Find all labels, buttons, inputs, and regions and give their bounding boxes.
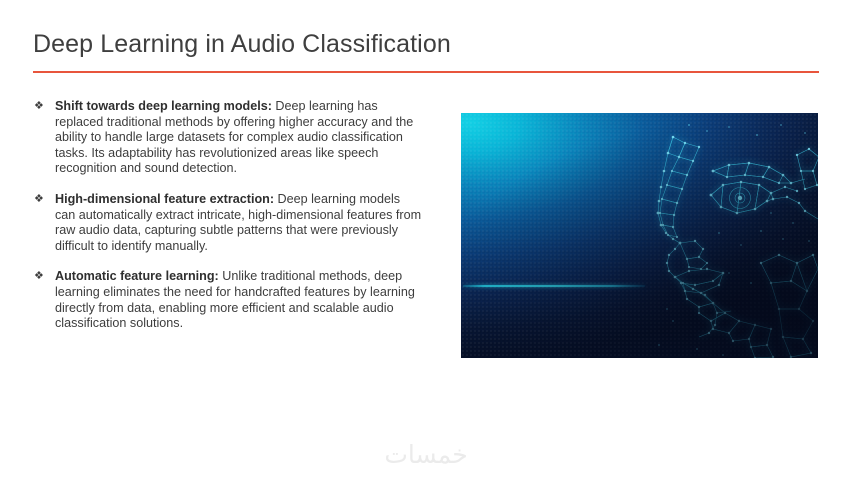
list-item-lead: High-dimensional feature extraction:	[55, 192, 274, 206]
slide-canvas: Deep Learning in Audio Classification ❖ …	[0, 0, 852, 478]
image-vignette-layer	[461, 113, 818, 358]
list-item: ❖ Automatic feature learning: Unlike tra…	[33, 269, 423, 331]
list-item-lead: Shift towards deep learning models:	[55, 99, 272, 113]
watermark-khamsat: خمسات	[0, 440, 852, 469]
diamond-bullet-icon: ❖	[34, 269, 44, 285]
bullet-list: ❖ Shift towards deep learning models: De…	[33, 99, 423, 347]
diamond-bullet-icon: ❖	[34, 99, 44, 115]
list-item: ❖ Shift towards deep learning models: De…	[33, 99, 423, 177]
list-item-lead: Automatic feature learning:	[55, 269, 219, 283]
diamond-bullet-icon: ❖	[34, 192, 44, 208]
list-item: ❖ High-dimensional feature extraction: D…	[33, 192, 423, 254]
title-underline-rule	[33, 71, 819, 73]
page-title: Deep Learning in Audio Classification	[33, 30, 451, 59]
slide-image-ai-face-waveform	[461, 113, 818, 358]
